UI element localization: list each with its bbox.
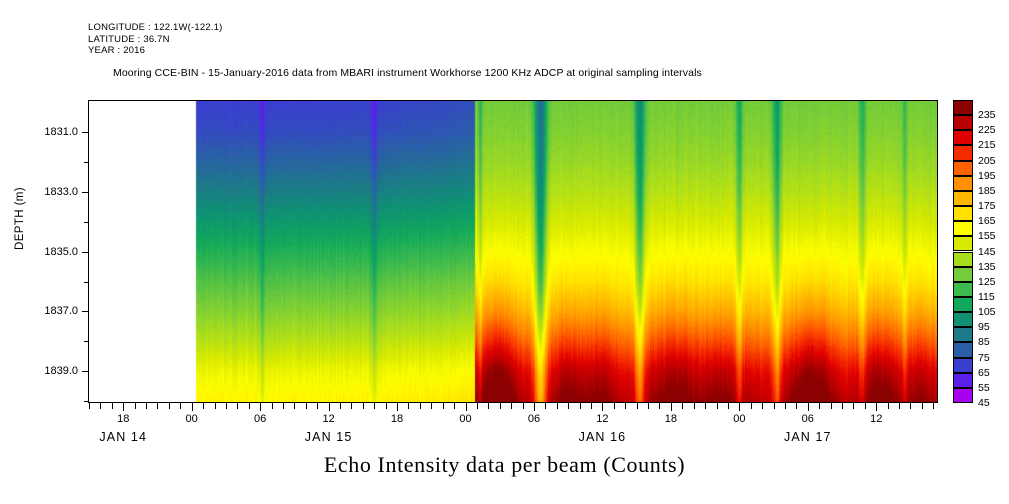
colorbar-band <box>953 161 973 176</box>
x-tick-minor <box>249 402 250 409</box>
x-tick-minor <box>203 402 204 409</box>
y-tick-major <box>82 311 89 312</box>
colorbar-band <box>953 342 973 357</box>
x-tick-minor <box>340 402 341 409</box>
x-tick-label: 00 <box>459 413 471 425</box>
x-tick-minor <box>454 402 455 409</box>
colorbar-band <box>953 176 973 191</box>
x-tick-major <box>260 402 261 411</box>
x-tick-minor <box>306 402 307 409</box>
colorbar-band <box>953 236 973 251</box>
x-tick-minor <box>215 402 216 409</box>
x-tick-minor <box>637 402 638 409</box>
x-tick-minor <box>831 402 832 409</box>
page-title: Mooring CCE-BIN - 15-January-2016 data f… <box>113 67 702 79</box>
x-tick-minor <box>374 402 375 409</box>
x-day-label: JAN 17 <box>784 430 832 444</box>
y-tick-label: 1839.0 <box>44 365 78 377</box>
x-tick-minor <box>157 402 158 409</box>
colorbar-tick-label: 185 <box>978 185 996 197</box>
x-tick-major <box>466 402 467 411</box>
y-tick-label: 1835.0 <box>44 246 78 258</box>
colorbar-tick-label: 195 <box>978 170 996 182</box>
colorbar-tick-label: 135 <box>978 261 996 273</box>
y-tick-major <box>82 252 89 253</box>
colorbar-band <box>953 312 973 327</box>
x-tick-minor <box>568 402 569 409</box>
colorbar-band <box>953 221 973 236</box>
x-tick-minor <box>100 402 101 409</box>
x-tick-minor <box>420 402 421 409</box>
x-tick-minor <box>705 402 706 409</box>
y-tick-minor <box>84 341 89 342</box>
x-tick-minor <box>226 402 227 409</box>
x-tick-minor <box>112 402 113 409</box>
y-tick-label: 1831.0 <box>44 126 78 138</box>
year-line: YEAR : 2016 <box>88 45 223 57</box>
colorbar-tick-label: 175 <box>978 200 996 212</box>
x-tick-major <box>123 402 124 411</box>
x-tick-minor <box>922 402 923 409</box>
x-tick-minor <box>717 402 718 409</box>
y-tick-major <box>82 132 89 133</box>
x-tick-minor <box>910 402 911 409</box>
x-tick-minor <box>146 402 147 409</box>
colorbar-tick-label: 85 <box>978 336 990 348</box>
colorbar-band <box>953 388 973 403</box>
x-tick-minor <box>659 402 660 409</box>
x-tick-label: 12 <box>596 413 608 425</box>
y-axis-label: DEPTH (m) <box>14 187 26 250</box>
colorbar-band <box>953 327 973 342</box>
colorbar-tick-label: 225 <box>978 124 996 136</box>
x-tick-minor <box>785 402 786 409</box>
x-tick-minor <box>272 402 273 409</box>
x-tick-minor <box>294 402 295 409</box>
colorbar: 2352252152051951851751651551451351251151… <box>953 100 973 403</box>
x-tick-major <box>808 402 809 411</box>
colorbar-tick-label: 65 <box>978 367 990 379</box>
x-tick-major <box>397 402 398 411</box>
x-tick-minor <box>819 402 820 409</box>
colorbar-tick-label: 115 <box>978 291 995 303</box>
colorbar-band <box>953 358 973 373</box>
x-tick-minor <box>751 402 752 409</box>
y-tick-label: 1833.0 <box>44 186 78 198</box>
x-tick-minor <box>169 402 170 409</box>
x-tick-minor <box>888 402 889 409</box>
colorbar-tick-label: 75 <box>978 352 990 364</box>
x-tick-minor <box>545 402 546 409</box>
longitude-line: LONGITUDE : 122.1W(-122.1) <box>88 22 223 34</box>
x-tick-minor <box>386 402 387 409</box>
x-tick-minor <box>317 402 318 409</box>
colorbar-tick-label: 215 <box>978 139 996 151</box>
colorbar-band <box>953 373 973 388</box>
x-tick-minor <box>511 402 512 409</box>
x-tick-minor <box>488 402 489 409</box>
x-tick-label: 18 <box>665 413 677 425</box>
x-tick-label: 00 <box>186 413 198 425</box>
colorbar-band <box>953 252 973 267</box>
y-tick-minor <box>84 222 89 223</box>
x-tick-minor <box>237 402 238 409</box>
x-tick-minor <box>625 402 626 409</box>
x-tick-minor <box>408 402 409 409</box>
x-tick-minor <box>443 402 444 409</box>
x-day-label: JAN 15 <box>305 430 353 444</box>
x-tick-minor <box>614 402 615 409</box>
x-tick-major <box>534 402 535 411</box>
y-tick-minor <box>84 282 89 283</box>
x-day-label: JAN 16 <box>579 430 627 444</box>
x-tick-label: 18 <box>117 413 129 425</box>
colorbar-band <box>953 297 973 312</box>
x-tick-major <box>329 402 330 411</box>
x-tick-label: 18 <box>391 413 403 425</box>
x-tick-minor <box>853 402 854 409</box>
heatmap-area <box>89 101 937 402</box>
colorbar-band <box>953 130 973 145</box>
colorbar-band <box>953 206 973 221</box>
colorbar-band <box>953 115 973 130</box>
x-tick-minor <box>648 402 649 409</box>
x-day-label: JAN 14 <box>99 430 147 444</box>
x-tick-minor <box>477 402 478 409</box>
x-tick-minor <box>135 402 136 409</box>
x-tick-label: 06 <box>802 413 814 425</box>
x-tick-minor <box>774 402 775 409</box>
x-tick-major <box>876 402 877 411</box>
x-tick-label: 12 <box>870 413 882 425</box>
latitude-line: LATITUDE : 36.7N <box>88 34 223 46</box>
x-tick-minor <box>796 402 797 409</box>
x-tick-minor <box>842 402 843 409</box>
x-tick-minor <box>523 402 524 409</box>
colorbar-tick-label: 55 <box>978 382 990 394</box>
x-tick-minor <box>363 402 364 409</box>
colorbar-tick-label: 205 <box>978 155 996 167</box>
colorbar-tick-label: 165 <box>978 215 996 227</box>
y-tick-minor <box>84 162 89 163</box>
x-tick-minor <box>682 402 683 409</box>
y-tick-major <box>82 371 89 372</box>
x-tick-minor <box>89 402 90 409</box>
colorbar-tick-label: 155 <box>978 230 996 242</box>
x-tick-minor <box>351 402 352 409</box>
x-tick-minor <box>431 402 432 409</box>
x-tick-minor <box>933 402 934 409</box>
x-tick-minor <box>694 402 695 409</box>
x-tick-minor <box>500 402 501 409</box>
colorbar-band <box>953 191 973 206</box>
figure-caption: Echo Intensity data per beam (Counts) <box>0 452 1009 478</box>
x-tick-major <box>602 402 603 411</box>
x-tick-minor <box>580 402 581 409</box>
plot-frame: 1831.01833.01835.01837.01839.0 180006121… <box>88 100 938 403</box>
x-tick-label: 00 <box>733 413 745 425</box>
x-tick-major <box>671 402 672 411</box>
heatmap-canvas <box>89 101 937 402</box>
x-tick-minor <box>557 402 558 409</box>
colorbar-tick-label: 145 <box>978 246 996 258</box>
x-tick-minor <box>180 402 181 409</box>
colorbar-tick-label: 125 <box>978 276 996 288</box>
colorbar-tick-label: 105 <box>978 306 996 318</box>
colorbar-tick-label: 235 <box>978 109 996 121</box>
y-tick-major <box>82 192 89 193</box>
x-tick-minor <box>899 402 900 409</box>
metadata-block: LONGITUDE : 122.1W(-122.1) LATITUDE : 36… <box>88 22 223 57</box>
x-tick-minor <box>762 402 763 409</box>
x-tick-minor <box>283 402 284 409</box>
x-tick-major <box>739 402 740 411</box>
x-tick-minor <box>865 402 866 409</box>
x-tick-minor <box>591 402 592 409</box>
x-tick-label: 06 <box>254 413 266 425</box>
colorbar-band <box>953 145 973 160</box>
y-tick-label: 1837.0 <box>44 305 78 317</box>
colorbar-band <box>953 100 973 115</box>
colorbar-band <box>953 267 973 282</box>
x-tick-label: 12 <box>322 413 334 425</box>
colorbar-tick-label: 45 <box>978 397 990 409</box>
colorbar-tick-label: 95 <box>978 321 990 333</box>
colorbar-band <box>953 282 973 297</box>
x-tick-minor <box>728 402 729 409</box>
x-tick-major <box>192 402 193 411</box>
x-tick-label: 06 <box>528 413 540 425</box>
